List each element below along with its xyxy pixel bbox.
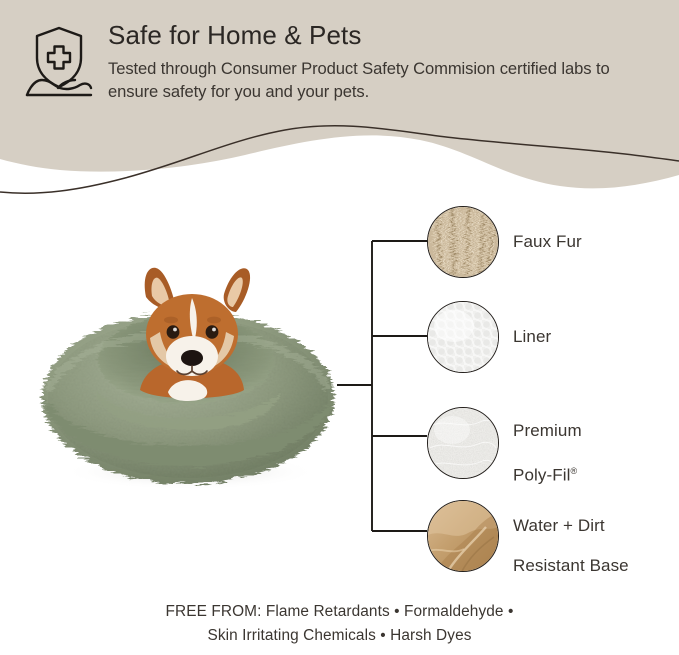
swatch-label-faux-fur: Faux Fur [513, 232, 582, 252]
swatch-row-liner: Liner [427, 301, 551, 373]
poly-fil-line-2: Poly-Fil [513, 466, 570, 485]
swatch-row-water-dirt-base: Water + Dirt Resistant Base [427, 496, 629, 576]
base-line-2: Resistant Base [513, 556, 629, 575]
faux-fur-texture-swatch [427, 206, 499, 278]
liner-texture-swatch [427, 301, 499, 373]
swatch-row-faux-fur: Faux Fur [427, 206, 582, 278]
poly-fil-line-1: Premium [513, 421, 582, 440]
poly-fil-fiberfill-swatch [427, 407, 499, 479]
water-dirt-resistant-base-swatch [427, 500, 499, 572]
base-line-1: Water + Dirt [513, 516, 605, 535]
swatch-label-water-dirt-base: Water + Dirt Resistant Base [513, 496, 629, 576]
product-infographic: Safe for Home & Pets Tested through Cons… [0, 0, 679, 655]
banner-title: Safe for Home & Pets [108, 20, 653, 50]
swatch-label-liner: Liner [513, 327, 551, 347]
free-from-line-2: Skin Irritating Chemicals • Harsh Dyes [0, 624, 679, 648]
product-image-dog-bed [28, 250, 348, 500]
swatch-row-poly-fil: Premium Poly-Fil® [427, 401, 582, 486]
free-from-line-1: FREE FROM: Flame Retardants • Formaldehy… [0, 600, 679, 624]
shield-cross-on-hand-icon [22, 22, 96, 102]
corgi-dog [140, 268, 250, 401]
swatch-label-poly-fil: Premium Poly-Fil® [513, 401, 582, 486]
registered-mark-icon: ® [570, 466, 577, 476]
banner-text-block: Safe for Home & Pets Tested through Cons… [108, 18, 653, 103]
banner-subtitle: Tested through Consumer Product Safety C… [108, 57, 653, 103]
banner-content: Safe for Home & Pets Tested through Cons… [0, 0, 679, 140]
free-from-footer: FREE FROM: Flame Retardants • Formaldehy… [0, 600, 679, 648]
